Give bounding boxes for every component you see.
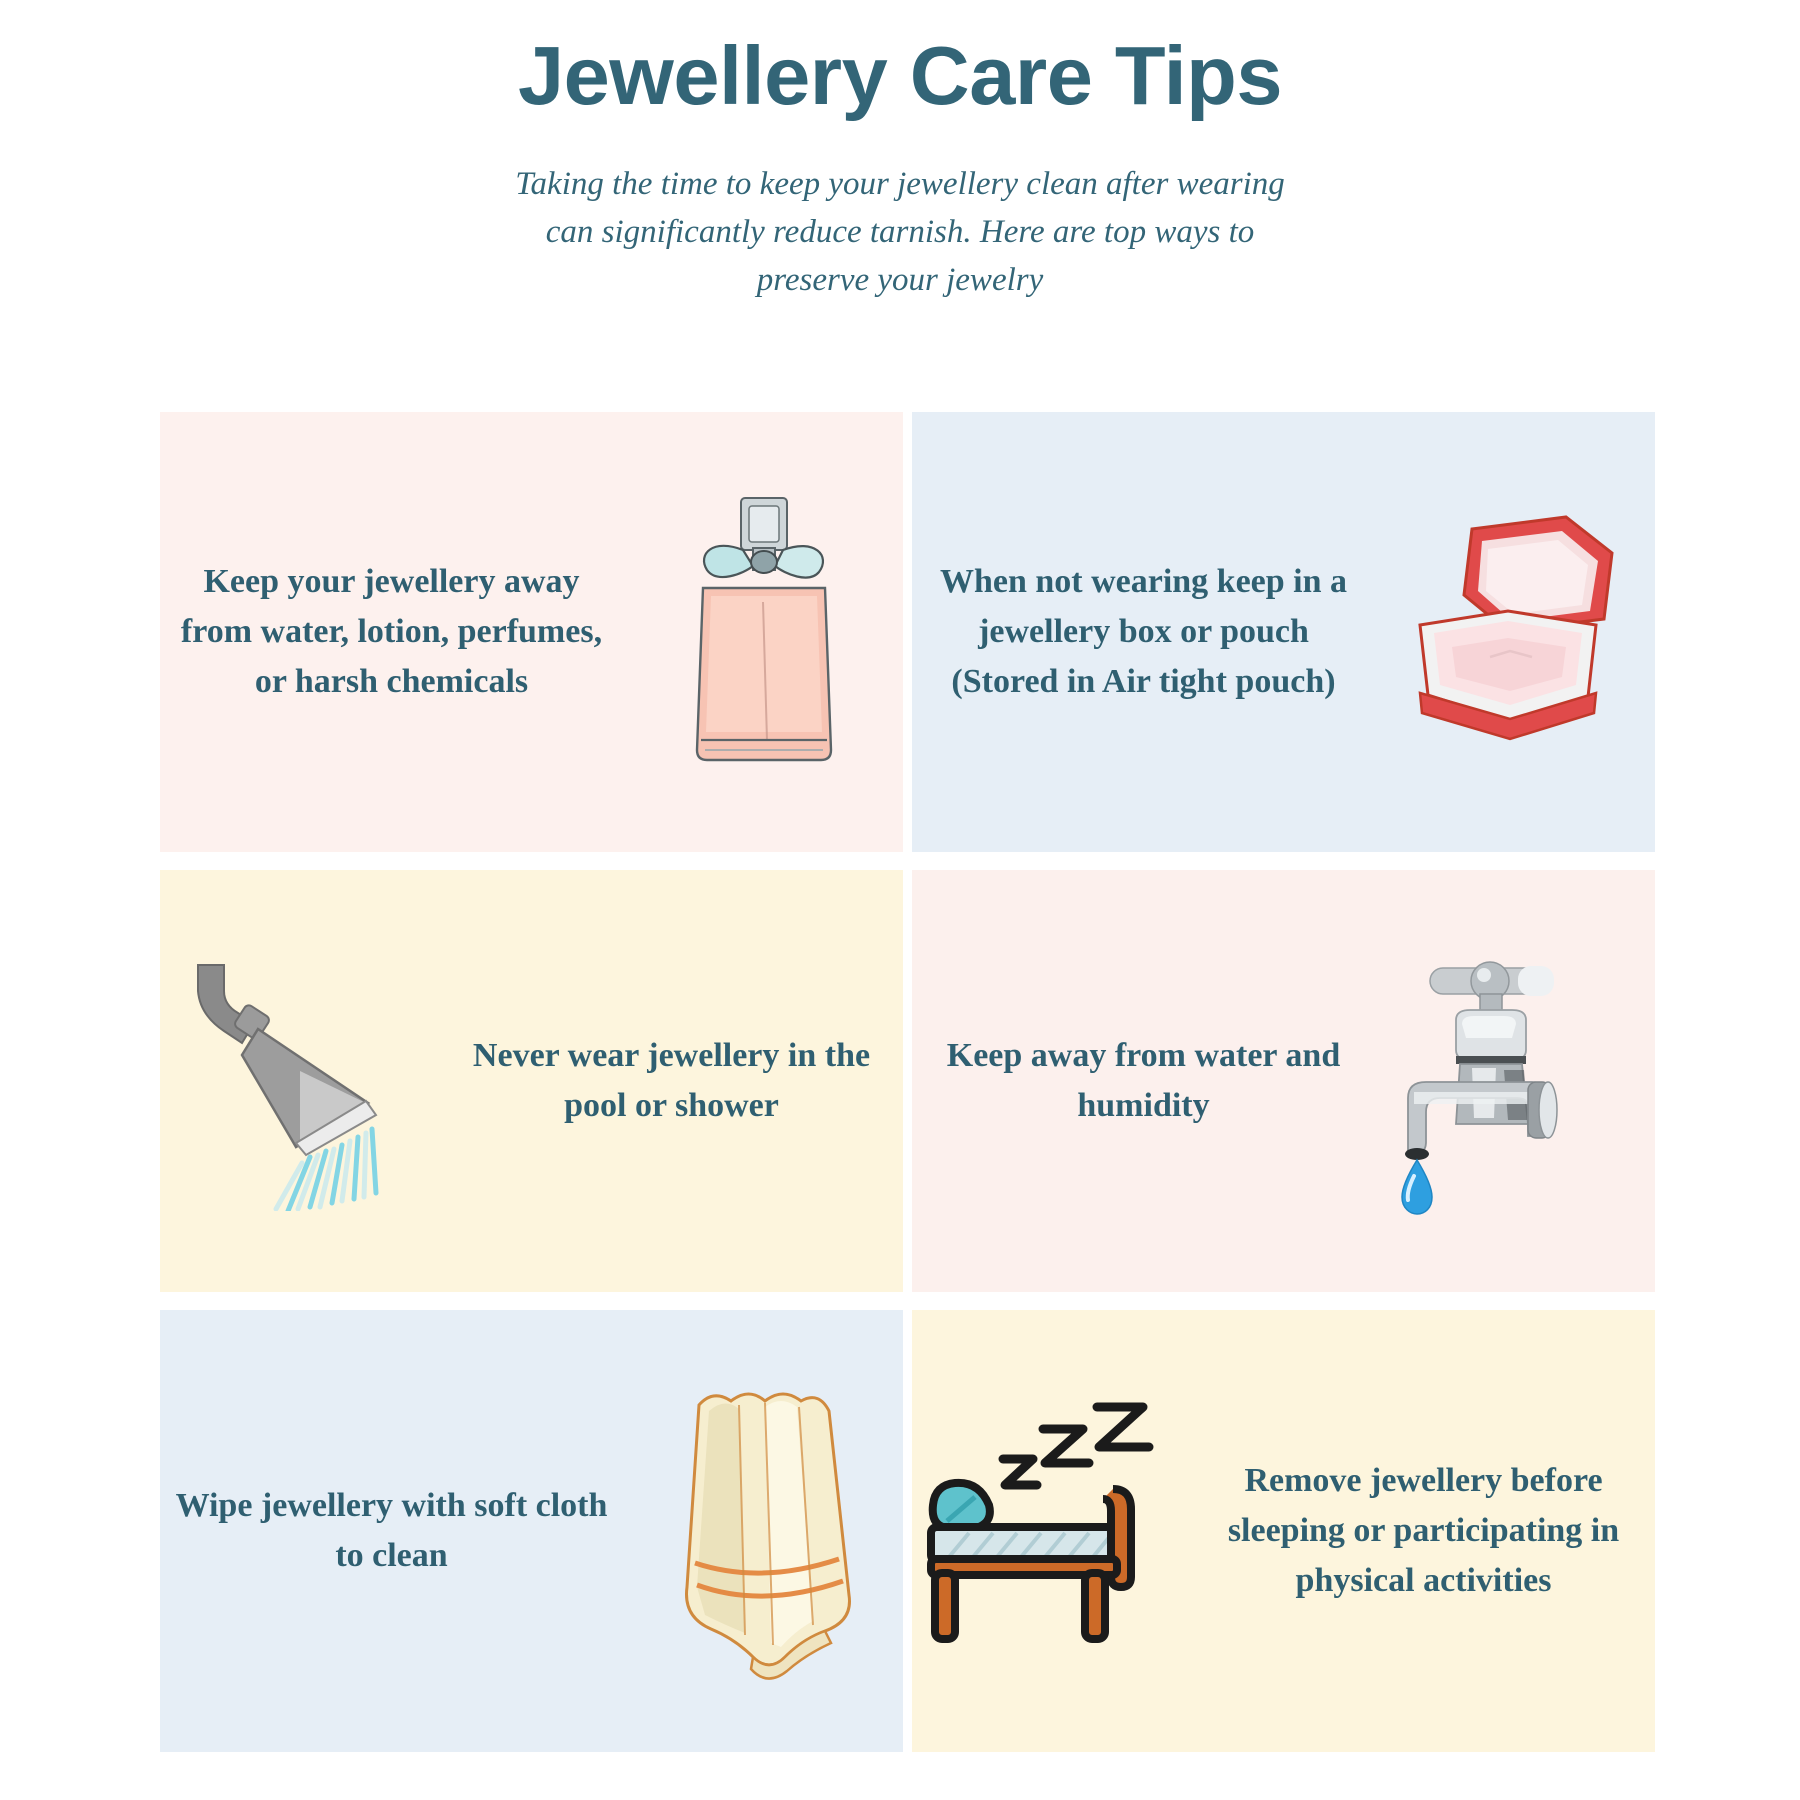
tip-text: Keep your jewellery away from water, lot… [160,557,623,708]
header: Jewellery Care Tips Taking the time to k… [0,0,1800,305]
tip-card-avoid-water-humidity: Keep away from water and humidity [912,870,1655,1292]
bed-icon [912,1310,1192,1752]
faucet-icon [1375,870,1655,1292]
tip-card-wipe-with-cloth: Wipe jewellery with soft cloth to clean [160,1310,903,1752]
shower-head-icon [160,870,440,1292]
tip-card-store-in-box: When not wearing keep in a jewellery box… [912,412,1655,852]
tip-text: Remove jewellery before sleeping or part… [1192,1456,1655,1607]
tip-card-remove-before-sleep: Remove jewellery before sleeping or part… [912,1310,1655,1752]
infographic-page: Jewellery Care Tips Taking the time to k… [0,0,1800,1800]
ring-box-icon [1375,412,1655,852]
cloth-icon [623,1310,903,1752]
page-subtitle: Taking the time to keep your jewellery c… [500,161,1300,305]
tip-text: Wipe jewellery with soft cloth to clean [160,1481,623,1582]
perfume-bottle-icon [623,412,903,852]
tip-text: Never wear jewellery in the pool or show… [440,1031,903,1132]
page-title: Jewellery Care Tips [0,28,1800,123]
tip-card-no-pool-or-shower: Never wear jewellery in the pool or show… [160,870,903,1292]
tip-text: Keep away from water and humidity [912,1031,1375,1132]
tip-card-avoid-chemicals: Keep your jewellery away from water, lot… [160,412,903,852]
tip-text: When not wearing keep in a jewellery box… [912,557,1375,708]
tips-grid: Keep your jewellery away from water, lot… [160,412,1645,1770]
